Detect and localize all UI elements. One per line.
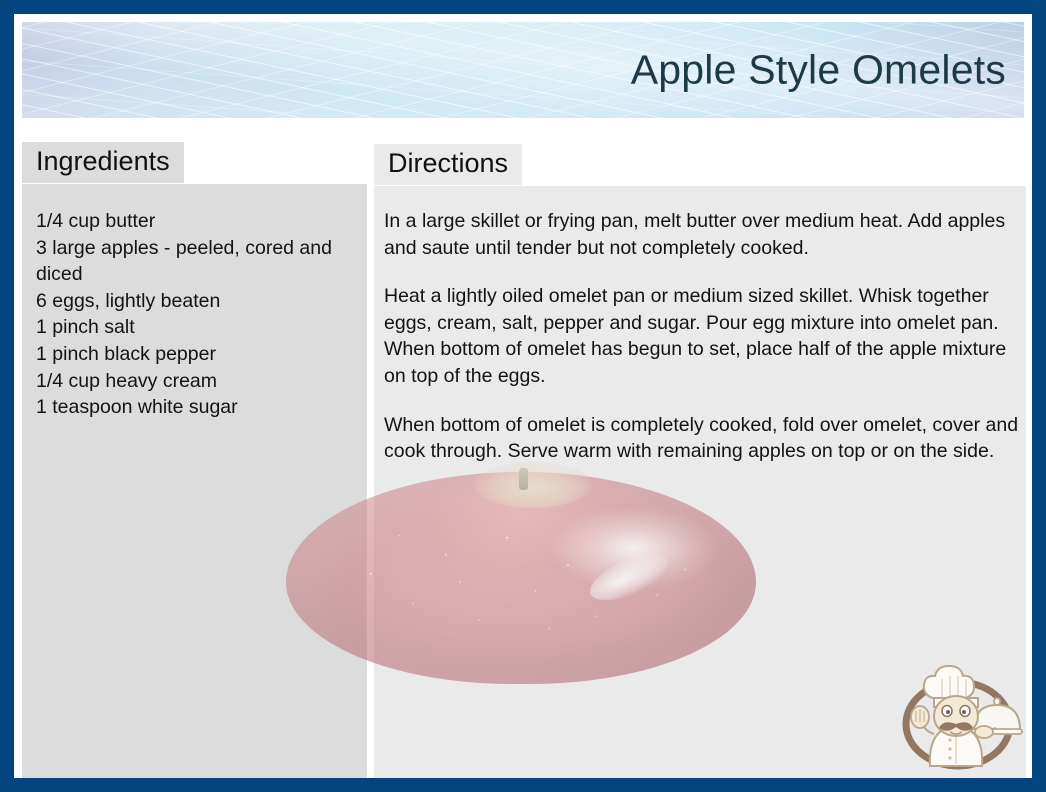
ingredients-panel: 1/4 cup butter 3 large apples - peeled, … xyxy=(22,184,367,778)
chef-face xyxy=(934,696,978,736)
list-item: 6 eggs, lightly beaten xyxy=(36,288,356,315)
directions-body: In a large skillet or frying pan, melt b… xyxy=(384,208,1020,465)
directions-heading: Directions xyxy=(374,144,522,185)
panel-divider xyxy=(367,184,374,778)
list-item: 3 large apples - peeled, cored and diced xyxy=(36,235,356,288)
chef-with-cloche-logo xyxy=(898,654,1024,774)
direction-step: When bottom of omelet is completely cook… xyxy=(384,412,1020,465)
page-title: Apple Style Omelets xyxy=(631,47,1006,94)
direction-step: Heat a lightly oiled omelet pan or mediu… xyxy=(384,283,1020,389)
list-item: 1/4 cup heavy cream xyxy=(36,368,356,395)
recipe-slide: Apple Style Omelets 1/4 cup butter 3 lar… xyxy=(14,14,1032,778)
list-item: 1 pinch salt xyxy=(36,314,356,341)
list-item: 1 teaspoon white sugar xyxy=(36,394,356,421)
ingredients-heading: Ingredients xyxy=(22,142,184,183)
list-item: 1 pinch black pepper xyxy=(36,341,356,368)
waving-hand-icon xyxy=(911,706,929,728)
slide-header-banner: Apple Style Omelets xyxy=(22,22,1024,118)
direction-step: In a large skillet or frying pan, melt b… xyxy=(384,208,1020,261)
ingredients-list: 1/4 cup butter 3 large apples - peeled, … xyxy=(36,208,356,421)
list-item: 1/4 cup butter xyxy=(36,208,356,235)
